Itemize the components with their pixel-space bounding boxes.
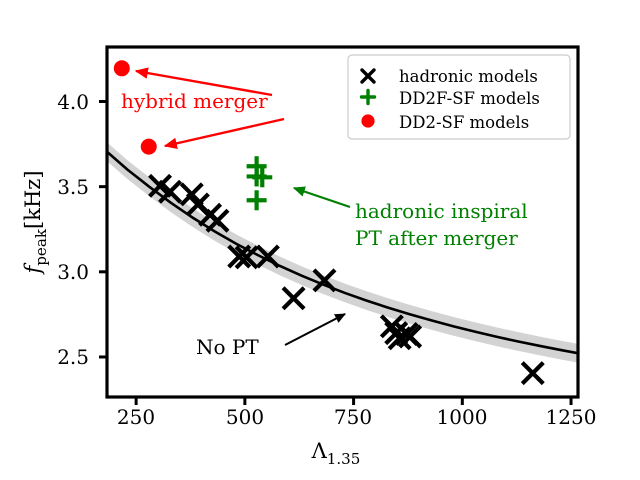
annotation-no-pt-label: No PT — [196, 335, 259, 359]
x-axis-title-main: Λ — [311, 439, 328, 463]
plot-canvas: 250 500 750 1000 1250 2.5 3.0 3.5 4.0 Λ1… — [0, 0, 640, 480]
x-axis-title-sub: 1.35 — [327, 450, 361, 468]
legend-label-dd2-sf-models: DD2-SF models — [399, 113, 529, 132]
x-tick-label-0: 250 — [117, 405, 155, 429]
x-axis-title: Λ1.35 — [311, 439, 361, 468]
x-tick-label-4: 1250 — [546, 405, 597, 429]
x-tick-label-2: 750 — [334, 405, 372, 429]
data-point-circle — [141, 139, 157, 155]
y-tick-label-2: 3.5 — [57, 175, 89, 199]
x-tick-label-1: 500 — [226, 405, 264, 429]
svg-text:Λ1.35: Λ1.35 — [311, 439, 361, 468]
svg-text:fpeak[kHz]: fpeak[kHz] — [21, 170, 50, 275]
annotation-hybrid-merger-label: hybrid merger — [121, 89, 268, 113]
y-tick-label-3: 4.0 — [57, 90, 89, 114]
legend[interactable]: hadronic models DD2F-SF models DD2-SF mo… — [348, 55, 570, 139]
circle-marker-icon — [361, 114, 374, 127]
annotation-hadronic-inspiral-line1: hadronic inspiral — [355, 199, 528, 223]
annotation-hadronic-inspiral-line2: PT after merger — [355, 226, 518, 250]
y-tick-label-0: 2.5 — [57, 345, 89, 369]
y-axis-title-unit: [kHz] — [21, 170, 45, 229]
legend-label-dd2f-sf-models: DD2F-SF models — [399, 89, 540, 108]
figure-container: 250 500 750 1000 1250 2.5 3.0 3.5 4.0 Λ1… — [0, 0, 640, 480]
legend-label-hadronic-models: hadronic models — [399, 67, 538, 86]
y-axis-title-sub: peak — [32, 228, 50, 266]
y-axis-title: fpeak[kHz] — [21, 170, 50, 275]
x-tick-label-3: 1000 — [437, 405, 488, 429]
data-point-circle — [114, 60, 130, 76]
y-tick-label-1: 3.0 — [57, 260, 89, 284]
